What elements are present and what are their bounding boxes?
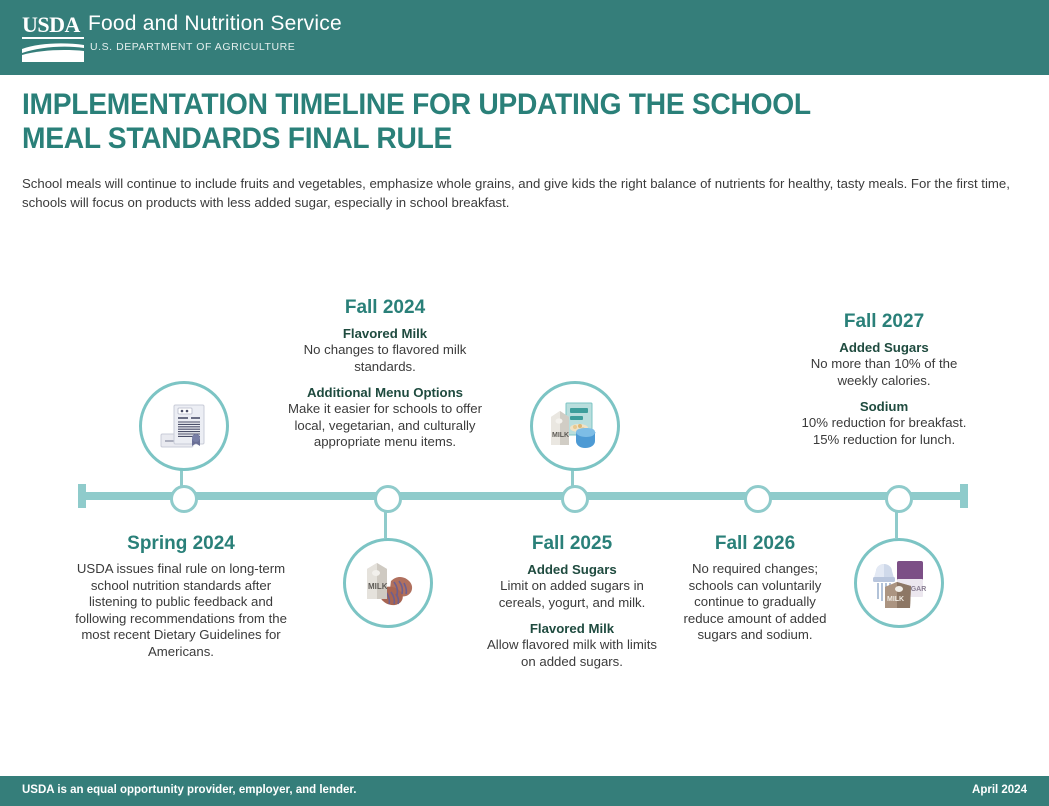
footer-statement: USDA is an equal opportunity provider, e… — [22, 784, 356, 796]
salt-sugar-milk-icon: SUGAR MILK — [870, 555, 928, 611]
event-section-head: Additional Menu Options — [282, 384, 488, 401]
timeline-node-fall-2026[interactable] — [744, 485, 772, 513]
event-year-fall-2026: Fall 2026 — [682, 532, 828, 555]
icon-circle-fall-2024: MILK — [343, 538, 433, 628]
document-seal-icon — [156, 398, 212, 454]
timeline-event-fall-2024: Fall 2024 Flavored Milk No changes to fl… — [282, 296, 488, 451]
timeline-axis-start-cap — [78, 484, 86, 508]
event-year-fall-2027: Fall 2027 — [789, 310, 979, 333]
usda-logo-rule — [22, 37, 84, 39]
event-section-body: Make it easier for schools to offer loca… — [282, 401, 488, 451]
usda-logo-swoosh-icon — [22, 42, 84, 62]
event-section-head: Flavored Milk — [478, 620, 666, 637]
timeline-event-fall-2025: Fall 2025 Added Sugars Limit on added su… — [478, 532, 666, 670]
event-section-body: USDA issues final rule on long-term scho… — [72, 561, 290, 660]
spacer — [282, 375, 488, 384]
usda-logo: USDA — [22, 14, 84, 60]
event-section-body: No changes to flavored milk standards. — [282, 342, 488, 375]
event-section-body: 10% reduction for breakfast. 15% reducti… — [789, 415, 979, 448]
header-department-name: U.S. DEPARTMENT OF AGRICULTURE — [90, 41, 295, 53]
event-year-fall-2024: Fall 2024 — [282, 296, 488, 319]
event-section-head: Added Sugars — [478, 561, 666, 578]
usda-logo-wordmark: USDA — [22, 14, 84, 36]
page-header: USDA Food and Nutrition Service U.S. DEP… — [0, 0, 1049, 75]
timeline-event-fall-2027: Fall 2027 Added Sugars No more than 10% … — [789, 310, 979, 448]
event-section-body: Limit on added sugars in cereals, yogurt… — [478, 578, 666, 611]
timeline-axis-end-cap — [960, 484, 968, 508]
svg-text:MILK: MILK — [887, 596, 904, 603]
event-section-body: No more than 10% of the weekly calories. — [789, 356, 979, 389]
timeline-event-fall-2026: Fall 2026 No required changes; schools c… — [682, 532, 828, 644]
event-section-head: Added Sugars — [789, 339, 979, 356]
icon-circle-fall-2027: SUGAR MILK — [854, 538, 944, 628]
event-year-fall-2025: Fall 2025 — [478, 532, 666, 555]
timeline-node-fall-2027[interactable] — [885, 485, 913, 513]
spacer — [789, 389, 979, 398]
svg-text:MILK: MILK — [368, 582, 388, 591]
icon-circle-fall-2025: MILK — [530, 381, 620, 471]
icon-circle-spring-2024 — [139, 381, 229, 471]
event-year-spring-2024: Spring 2024 — [72, 532, 290, 555]
page-title: IMPLEMENTATION TIMELINE FOR UPDATING THE… — [22, 88, 887, 156]
page-footer: USDA is an equal opportunity provider, e… — [0, 776, 1049, 806]
timeline-node-fall-2024[interactable] — [374, 485, 402, 513]
timeline-node-spring-2024[interactable] — [170, 485, 198, 513]
timeline-axis — [78, 492, 968, 500]
cereal-milk-yogurt-icon: MILK — [546, 398, 604, 454]
timeline-node-fall-2025[interactable] — [561, 485, 589, 513]
event-section-body: Allow flavored milk with limits on added… — [478, 637, 666, 670]
svg-text:MILK: MILK — [552, 432, 569, 439]
milk-carton-produce-icon: MILK — [359, 555, 417, 611]
event-section-head: Sodium — [789, 398, 979, 415]
spacer — [478, 611, 666, 620]
header-agency-name: Food and Nutrition Service — [88, 12, 342, 36]
page-intro-paragraph: School meals will continue to include fr… — [22, 174, 1022, 212]
timeline-event-spring-2024: Spring 2024 USDA issues final rule on lo… — [72, 532, 290, 660]
event-section-head: Flavored Milk — [282, 325, 488, 342]
footer-date: April 2024 — [972, 784, 1027, 796]
event-section-body: No required changes; schools can volunta… — [682, 561, 828, 644]
